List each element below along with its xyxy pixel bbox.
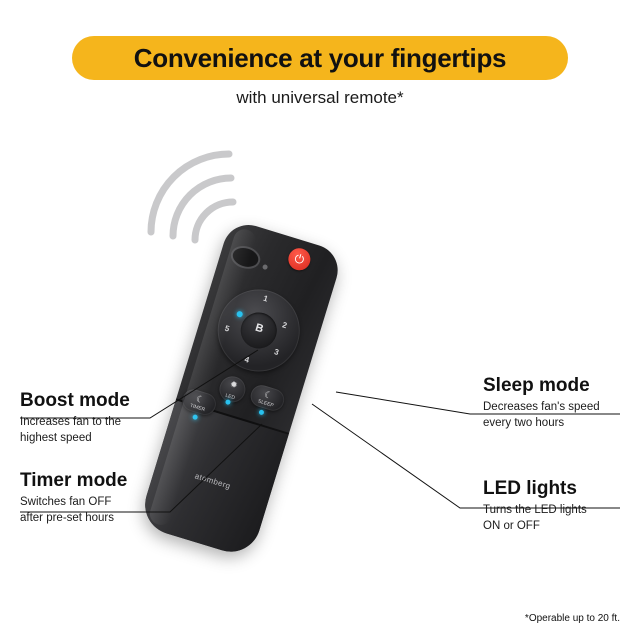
callout-boost-title: Boost mode bbox=[20, 390, 200, 412]
sleep-button[interactable]: ☾ SLEEP bbox=[248, 382, 287, 413]
boost-led-indicator bbox=[236, 310, 243, 317]
page-subtitle: with universal remote* bbox=[0, 88, 640, 108]
callout-boost-mode: Boost mode Increases fan to the highest … bbox=[20, 390, 200, 446]
power-icon: ⏻ bbox=[293, 252, 306, 266]
callout-sleep-title: Sleep mode bbox=[483, 375, 640, 397]
footnote: *Operable up to 20 ft. bbox=[525, 613, 620, 624]
poster-canvas: Convenience at your fingertips with univ… bbox=[0, 0, 640, 640]
remote-ir-dot bbox=[262, 264, 268, 270]
dial-number-2: 2 bbox=[281, 320, 288, 330]
dial-number-5: 5 bbox=[224, 324, 231, 334]
callout-led-title: LED lights bbox=[483, 478, 640, 500]
speed-dial[interactable]: 1 2 3 4 5 B bbox=[208, 279, 310, 381]
sleep-led-indicator bbox=[258, 409, 264, 415]
callout-led-lights: LED lights Turns the LED lights ON or OF… bbox=[483, 478, 640, 534]
remote-illustration: ⏻ 1 2 3 4 5 B ✹ LED ☾ SLEEP bbox=[180, 145, 440, 575]
led-button[interactable]: ✹ LED bbox=[216, 373, 248, 405]
callout-boost-body: Increases fan to the highest speed bbox=[20, 415, 200, 446]
page-title: Convenience at your fingertips bbox=[134, 43, 506, 74]
power-button[interactable]: ⏻ bbox=[286, 245, 313, 272]
callout-sleep-body: Decreases fan's speed every two hours bbox=[483, 400, 640, 431]
callout-timer-body: Switches fan OFF after pre-set hours bbox=[20, 495, 200, 526]
title-banner: Convenience at your fingertips bbox=[72, 36, 568, 80]
led-led-indicator bbox=[225, 399, 231, 405]
callout-sleep-mode: Sleep mode Decreases fan's speed every t… bbox=[483, 375, 640, 431]
dial-number-4: 4 bbox=[243, 355, 250, 365]
callout-led-body: Turns the LED lights ON or OFF bbox=[483, 503, 640, 534]
callout-timer-title: Timer mode bbox=[20, 470, 200, 492]
dial-number-3: 3 bbox=[273, 347, 280, 357]
dial-number-1: 1 bbox=[262, 294, 269, 304]
callout-timer-mode: Timer mode Switches fan OFF after pre-se… bbox=[20, 470, 200, 526]
led-icon: ✹ bbox=[220, 377, 247, 393]
remote-oval-indicator bbox=[228, 243, 263, 273]
